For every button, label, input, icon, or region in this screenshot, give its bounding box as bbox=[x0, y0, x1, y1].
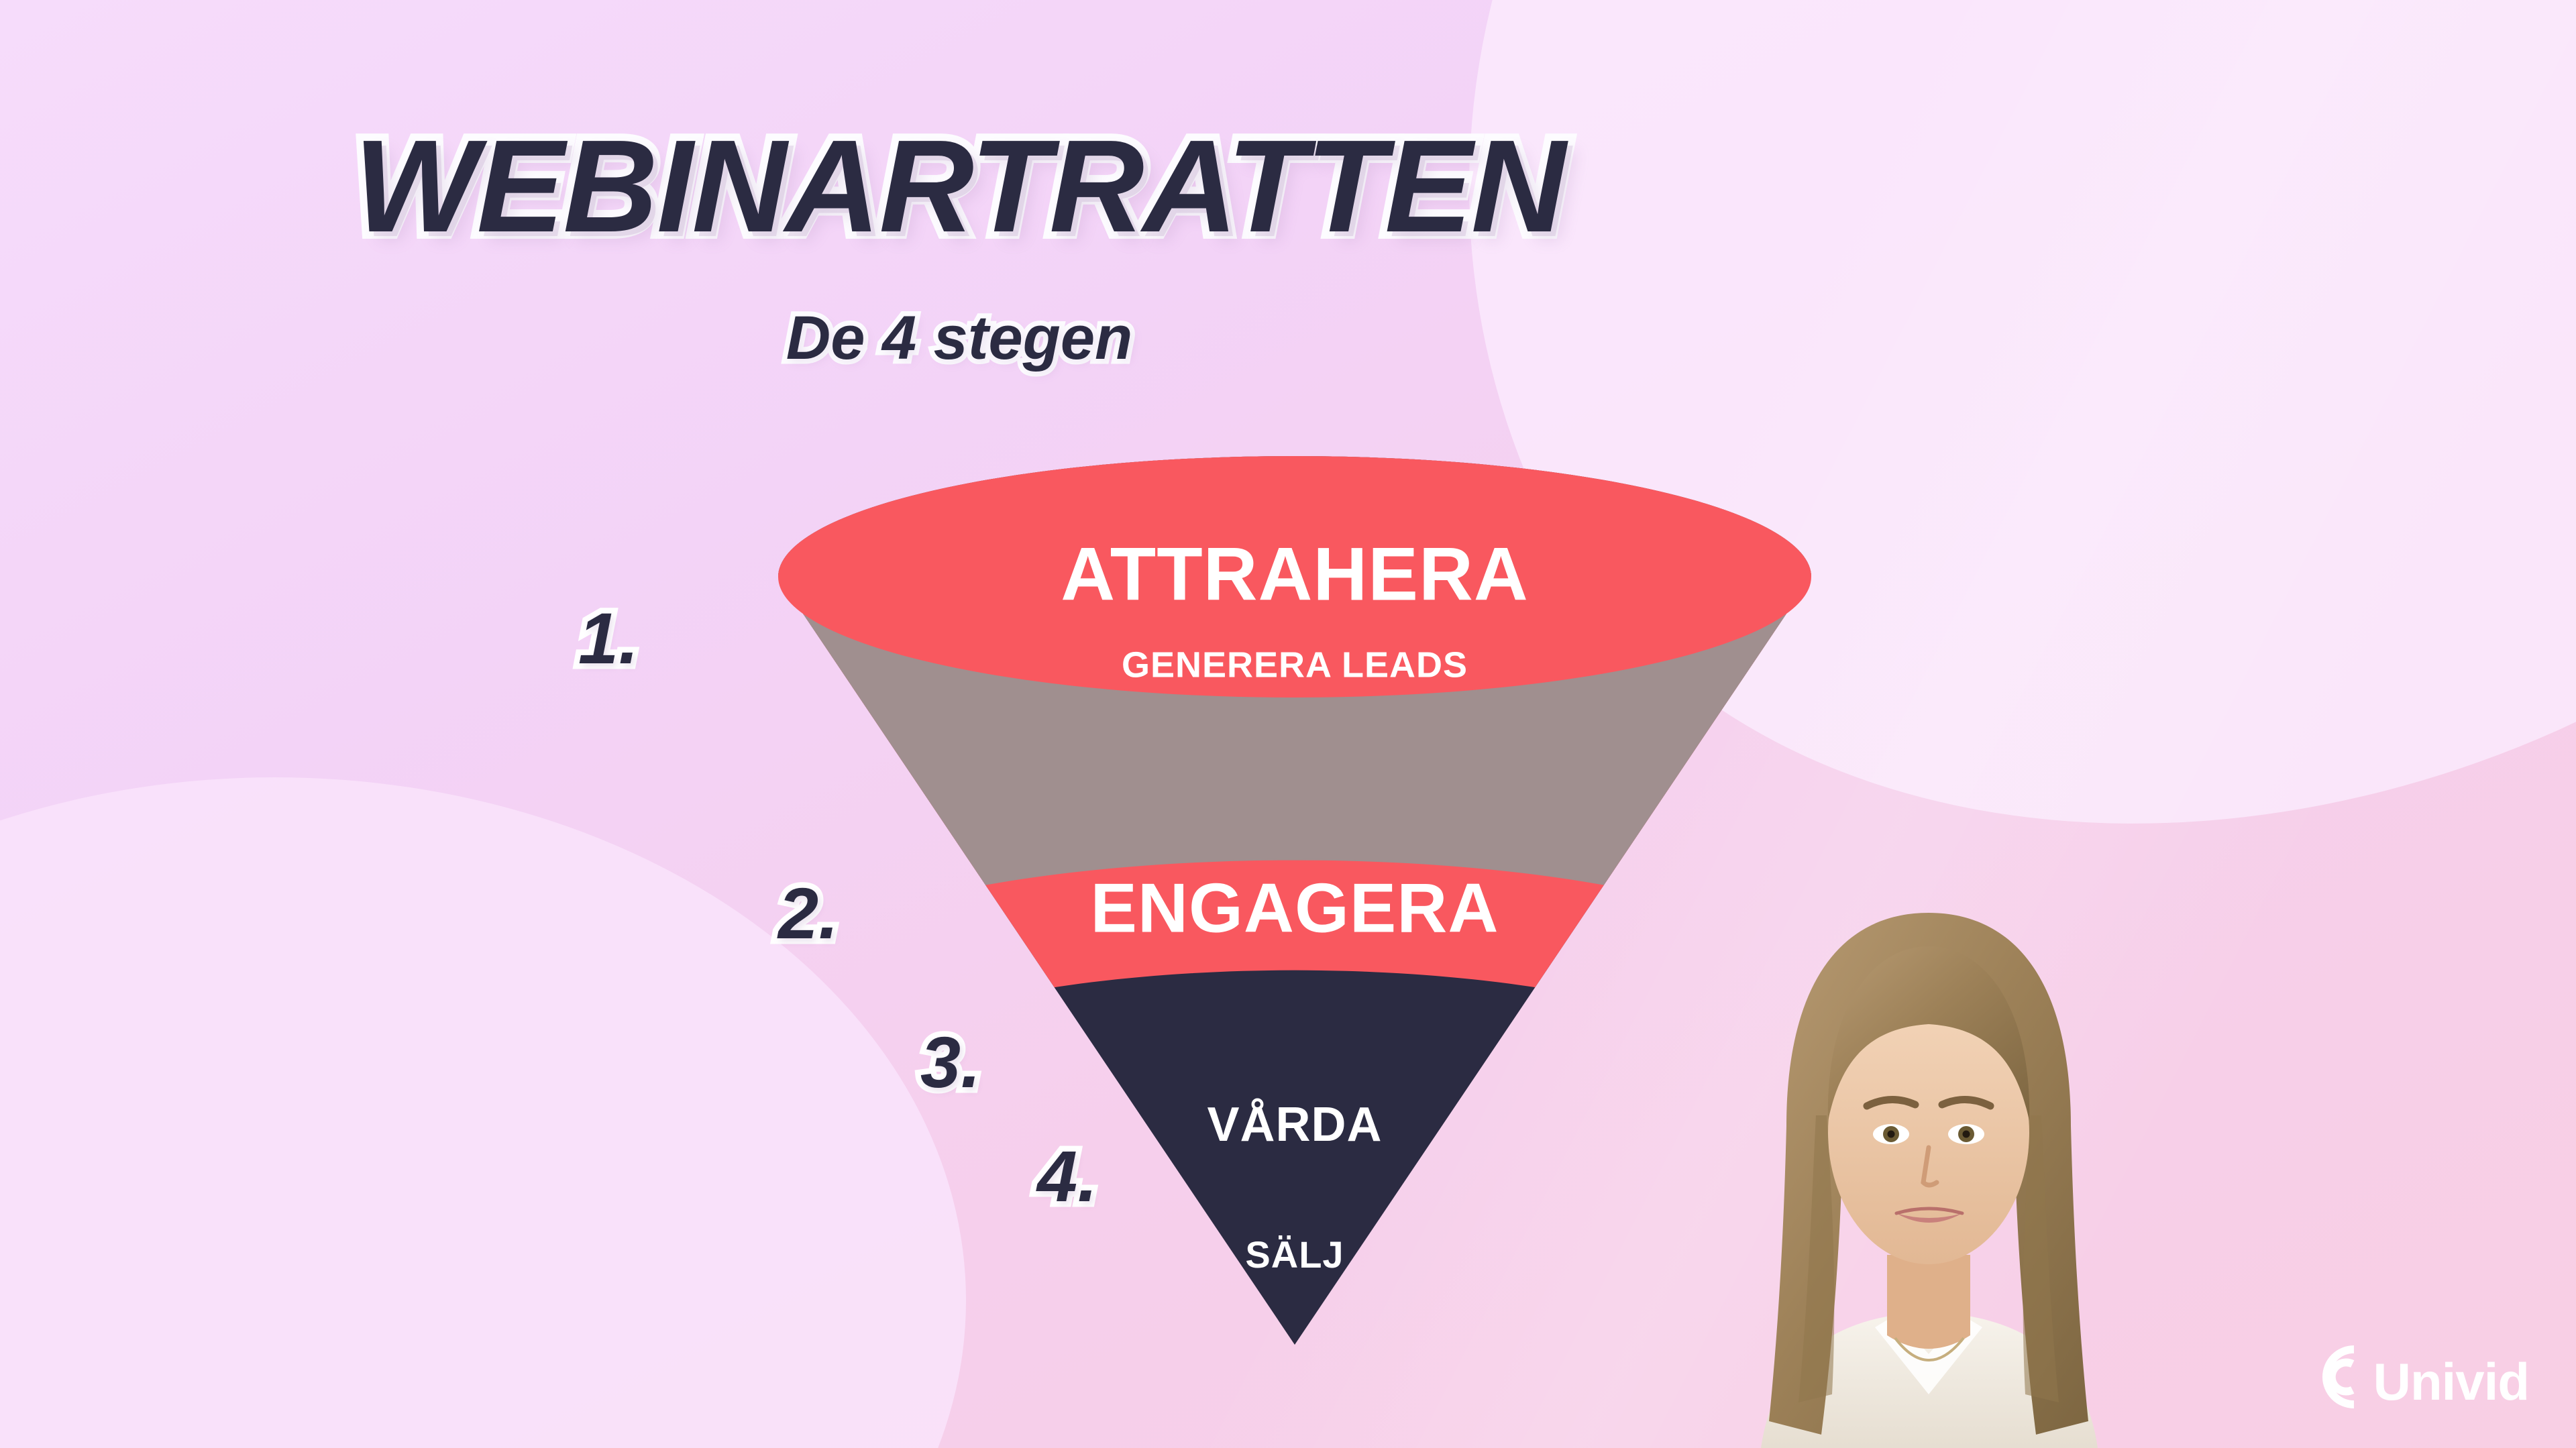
page-title: WEBINARTRATTEN bbox=[354, 118, 1565, 255]
step-number-2: 2. bbox=[778, 877, 839, 950]
presenter-portrait bbox=[1674, 885, 2184, 1448]
title-container: WEBINARTRATTEN bbox=[0, 118, 1919, 255]
funnel-label-attrahera: ATTRAHERA bbox=[1061, 533, 1529, 616]
funnel-sublabel-attrahera: GENERERA LEADS bbox=[1122, 645, 1468, 685]
funnel-diagram: ATTRAHERA GENERERA LEADS ENGAGERA VÅRDA … bbox=[765, 456, 1825, 1361]
funnel-label-salj: SÄLJ bbox=[1245, 1233, 1344, 1276]
concentric-arcs-icon bbox=[2309, 1341, 2381, 1413]
univid-logo[interactable]: Univid bbox=[2309, 1341, 2529, 1413]
subtitle-container: De 4 stegen bbox=[0, 303, 1919, 374]
funnel-label-varda: VÅRDA bbox=[1207, 1098, 1382, 1152]
step-number-1: 1. bbox=[578, 602, 639, 675]
step-number-4: 4. bbox=[1037, 1140, 1097, 1213]
univid-logo-text: Univid bbox=[2373, 1355, 2529, 1408]
page-subtitle: De 4 stegen bbox=[786, 303, 1132, 374]
funnel-label-engagera: ENGAGERA bbox=[1091, 869, 1499, 947]
step-number-3: 3. bbox=[920, 1026, 981, 1099]
webinar-funnel-slide: WEBINARTRATTEN De 4 stegen ATTRAHERA GEN… bbox=[0, 0, 2576, 1448]
